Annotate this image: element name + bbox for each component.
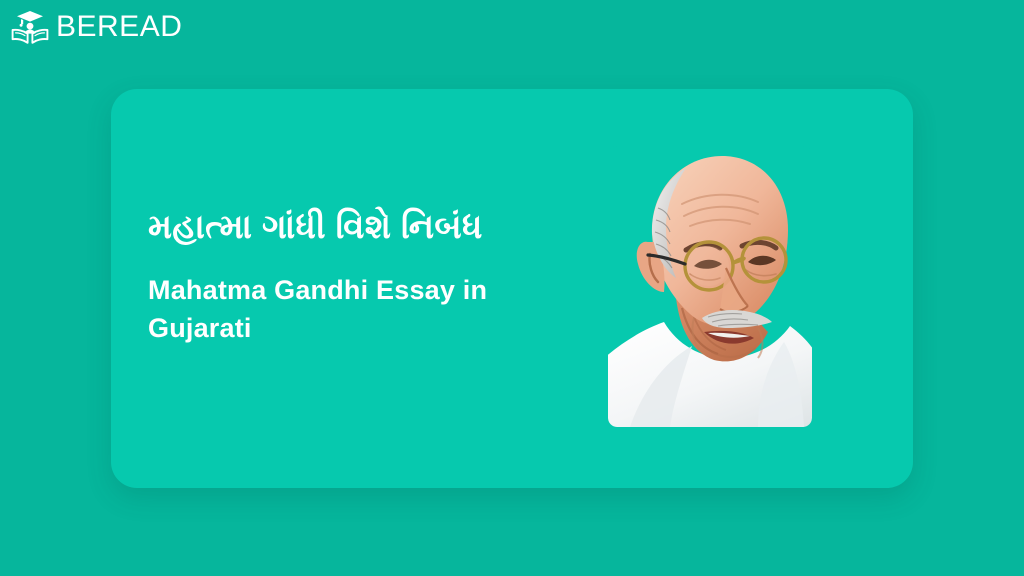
brand-name: BEREAD xyxy=(56,12,182,42)
page-title-english: Mahatma Gandhi Essay in Gujarati xyxy=(148,271,538,348)
brand-logo[interactable]: BEREAD xyxy=(10,7,182,47)
hero-card-content: મહાત્મા ગાંધી વિશે નિબંધ Mahatma Gandhi … xyxy=(111,89,913,488)
page-title-native: મહાત્મા ગાંધી વિશે નિબંધ xyxy=(148,205,578,251)
hero-text-column: મહાત્મા ગાંધી વિશે નિબંધ Mahatma Gandhi … xyxy=(148,89,578,488)
mahatma-gandhi-portrait xyxy=(608,146,812,427)
hero-card: મહાત્મા ગાંધી વિશે નિબંધ Mahatma Gandhi … xyxy=(111,89,913,488)
graduation-cap-open-book-icon xyxy=(10,8,50,46)
